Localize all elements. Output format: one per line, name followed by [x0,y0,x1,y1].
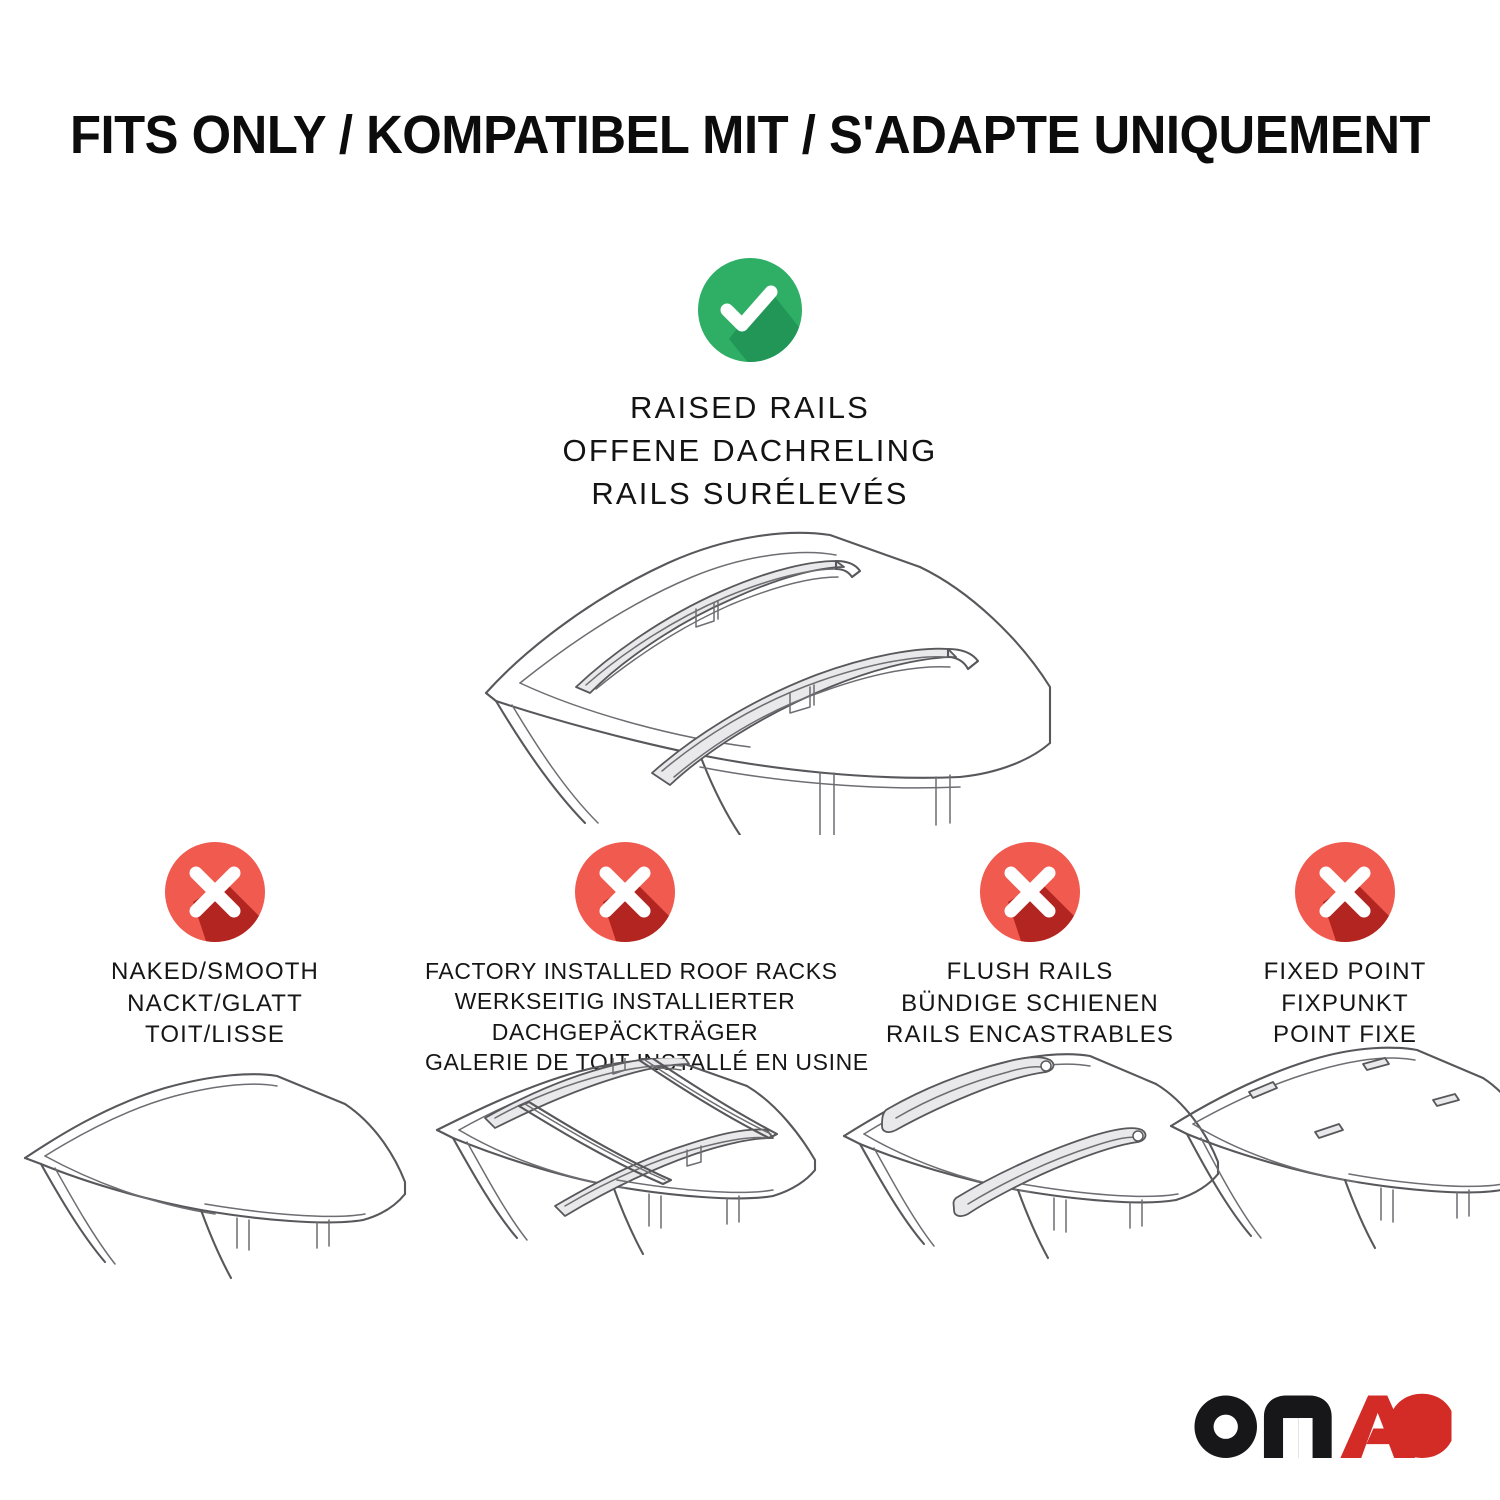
incompatible-item-fixed-point: FIXED POINT FIXPUNKT POINT FIXE [1150,840,1500,1051]
compatible-caption: RAISED RAILS OFFENE DACHRELING RAILS SUR… [0,387,1500,515]
incompatible-item-naked-smooth: NAKED/SMOOTH NACKT/GLATT TOIT/LISSE [15,840,415,1051]
incompatible-section: NAKED/SMOOTH NACKT/GLATT TOIT/LISSE [0,840,1500,1340]
caption-line-3: DACHGEPÄCKTRÄGER [425,1017,825,1047]
car-roof-factory-roof-racks-illustration [425,1058,825,1308]
car-roof-fixed-point-illustration [1145,1040,1500,1290]
cross-circle-icon [978,840,1082,944]
logo-letter-c [1389,1394,1452,1458]
caption-line-3: TOIT/LISSE [15,1019,415,1051]
car-roof-naked-smooth-illustration [15,1058,415,1308]
caption-line-2: FIXPUNKT [1150,988,1500,1020]
compatible-caption-line-1: RAISED RAILS [0,387,1500,430]
logo-letter-m [1264,1395,1332,1458]
caption-line-1: FIXED POINT [1150,956,1500,988]
check-circle-icon [695,255,805,365]
caption-line-2: WERKSEITIG INSTALLIERTER [425,986,825,1016]
compatible-section: RAISED RAILS OFFENE DACHRELING RAILS SUR… [0,255,1500,515]
incompatible-caption-fixed-point: FIXED POINT FIXPUNKT POINT FIXE [1150,956,1500,1051]
cross-circle-icon [573,840,677,944]
caption-line-1: NAKED/SMOOTH [15,956,415,988]
incompatible-item-factory-roof-racks: FACTORY INSTALLED ROOF RACKS WERKSEITIG … [425,840,825,1077]
caption-line-2: NACKT/GLATT [15,988,415,1020]
car-roof-raised-rails-illustration [400,505,1100,835]
logo-letter-o [1195,1395,1258,1458]
page-title: FITS ONLY / KOMPATIBEL MIT / S'ADAPTE UN… [45,104,1455,166]
cross-circle-icon [163,840,267,944]
caption-line-1: FACTORY INSTALLED ROOF RACKS [425,956,825,986]
incompatible-caption-naked-smooth: NAKED/SMOOTH NACKT/GLATT TOIT/LISSE [15,956,415,1051]
omac-logo [1191,1392,1452,1458]
cross-circle-icon [1293,840,1397,944]
compatible-caption-line-2: OFFENE DACHRELING [0,430,1500,473]
